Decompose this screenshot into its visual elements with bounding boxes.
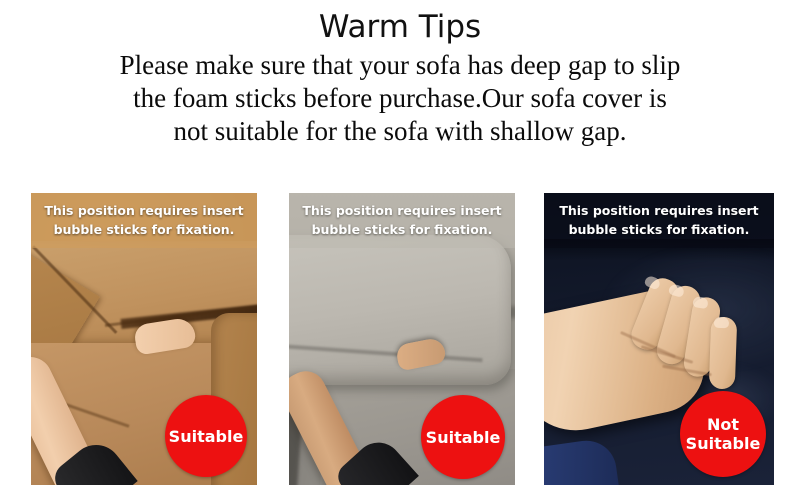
comparison-panels: This position requires insert bubble sti…	[0, 193, 800, 488]
panel-caption: This position requires insert bubble sti…	[289, 193, 515, 248]
sleeve	[544, 437, 619, 485]
panel-tan-leather-sofa: This position requires insert bubble sti…	[31, 193, 257, 485]
status-badge-not-suitable: Not Suitable	[680, 391, 766, 477]
panel-gray-fabric-sofa: This position requires insert bubble sti…	[289, 193, 515, 485]
badge-label-line-2: Suitable	[686, 434, 761, 453]
tips-line-2: the foam sticks before purchase.Our sofa…	[15, 82, 785, 115]
caption-line-2: bubble sticks for fixation.	[295, 220, 509, 239]
badge-label-wrap: Not Suitable	[686, 415, 761, 453]
panel-caption: This position requires insert bubble sti…	[544, 193, 774, 248]
status-badge-suitable: Suitable	[165, 395, 247, 477]
caption-line-1: This position requires insert	[550, 201, 768, 220]
caption-line-2: bubble sticks for fixation.	[550, 220, 768, 239]
status-badge-suitable: Suitable	[421, 395, 505, 479]
tips-description: Please make sure that your sofa has deep…	[15, 49, 785, 148]
tips-line-1: Please make sure that your sofa has deep…	[15, 49, 785, 82]
tips-line-3: not suitable for the sofa with shallow g…	[15, 115, 785, 148]
warm-tips-header: Warm Tips Please make sure that your sof…	[0, 0, 800, 148]
panel-dark-navy-sofa: This position requires insert bubble sti…	[544, 193, 774, 485]
panel-caption: This position requires insert bubble sti…	[31, 193, 257, 248]
page-title: Warm Tips	[0, 8, 800, 46]
fingernail-little	[714, 317, 729, 329]
badge-label: Suitable	[169, 427, 244, 446]
badge-label: Suitable	[426, 428, 501, 447]
caption-line-1: This position requires insert	[295, 201, 509, 220]
caption-line-2: bubble sticks for fixation.	[37, 220, 251, 239]
caption-line-1: This position requires insert	[37, 201, 251, 220]
badge-label-line-1: Not	[686, 415, 761, 434]
